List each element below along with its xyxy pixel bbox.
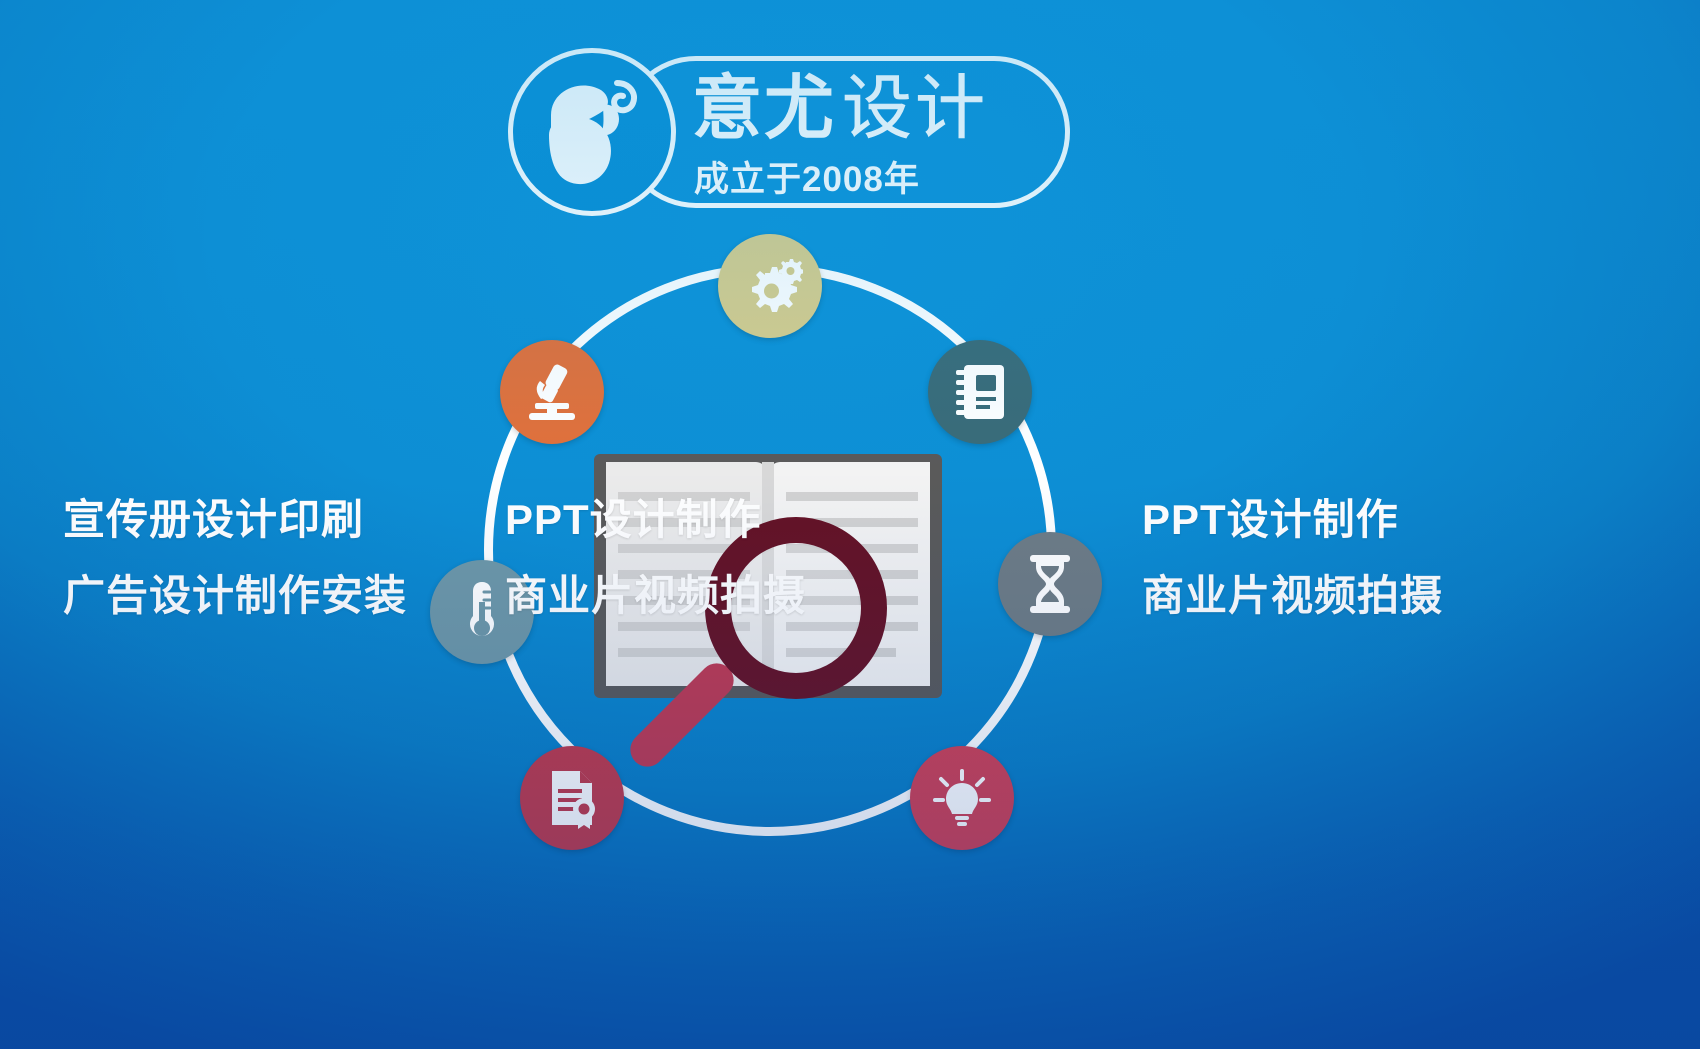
logo: 意尤 设计 成立于2008年 xyxy=(508,48,1074,216)
text-column-right: PPT设计制作 商业片视频拍摄 xyxy=(1142,482,1443,634)
hourglass-icon xyxy=(1026,553,1074,615)
middle-line-2: 商业片视频拍摄 xyxy=(505,558,806,634)
notebook-icon xyxy=(952,361,1008,423)
leaf-swirl-icon xyxy=(513,53,671,211)
left-line-1: 宣传册设计印刷 xyxy=(63,482,407,558)
microscope-icon xyxy=(521,361,583,423)
node-microscope[interactable] xyxy=(500,340,604,444)
left-line-2: 广告设计制作安装 xyxy=(63,558,407,634)
logo-tagline: 成立于2008年 xyxy=(694,160,920,200)
gears-icon xyxy=(737,255,803,317)
right-line-1: PPT设计制作 xyxy=(1142,482,1443,558)
middle-line-1: PPT设计制作 xyxy=(505,482,806,558)
text-column-left: 宣传册设计印刷 广告设计制作安装 xyxy=(63,482,407,634)
node-notebook[interactable] xyxy=(928,340,1032,444)
text-column-middle: PPT设计制作 商业片视频拍摄 xyxy=(505,482,806,634)
logo-name-bold: 意尤 xyxy=(692,70,836,146)
right-line-2: 商业片视频拍摄 xyxy=(1142,558,1443,634)
logo-mark xyxy=(508,48,676,216)
logo-wordmark: 意尤 设计 xyxy=(692,70,1052,154)
node-gear[interactable] xyxy=(718,234,822,338)
slide-canvas: 意尤 设计 成立于2008年 xyxy=(0,0,1700,1049)
node-hourglass[interactable] xyxy=(998,532,1102,636)
logo-name-thin: 设计 xyxy=(842,70,988,146)
thermometer-icon xyxy=(465,580,499,644)
